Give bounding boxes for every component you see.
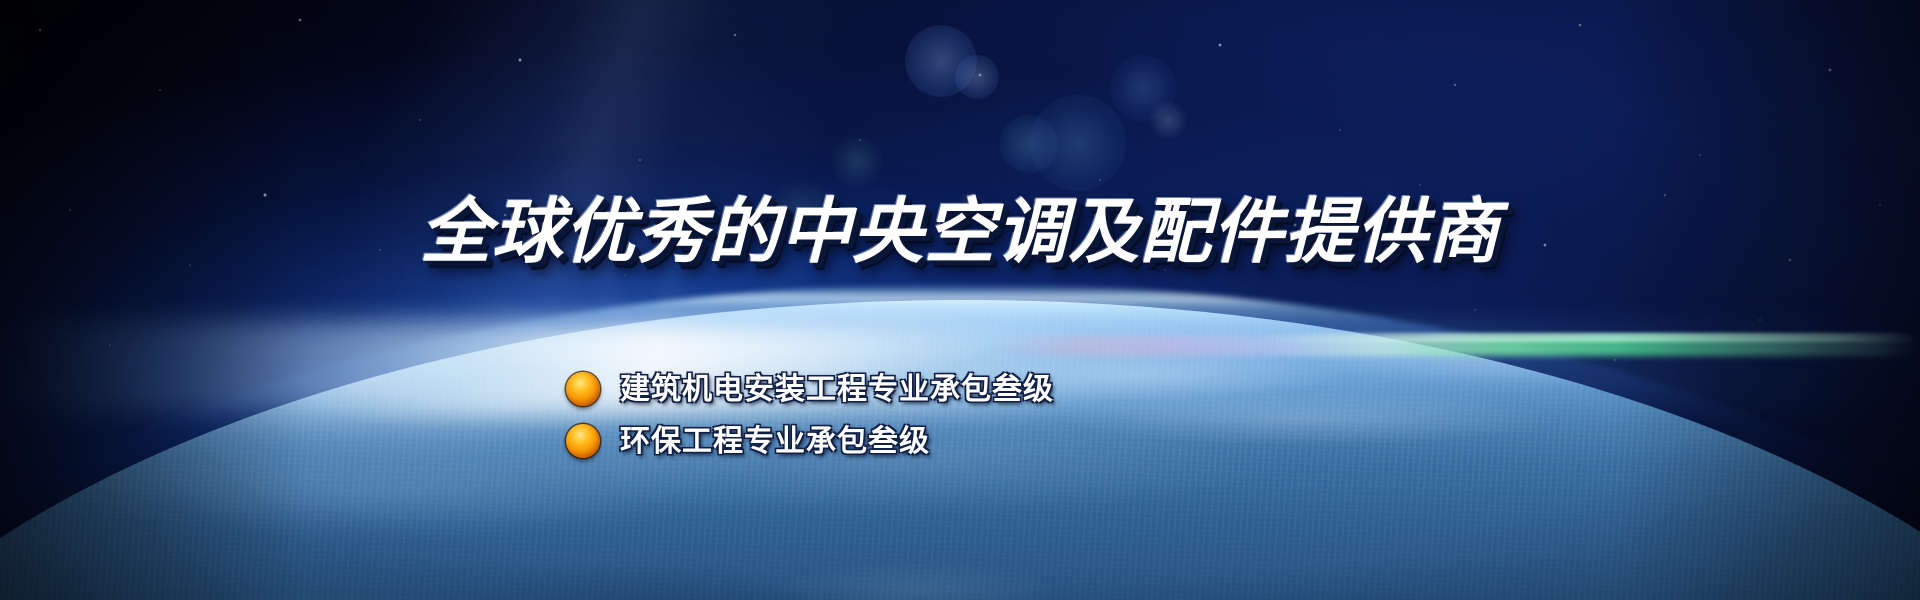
orange-dot-bullet-icon <box>566 424 600 458</box>
bullet-label: 建筑机电安装工程专业承包叁级 <box>620 373 1054 406</box>
banner-headline: 全球优秀的中央空调及配件提供商 <box>0 196 1920 267</box>
banner-bullet-list: 建筑机电安装工程专业承包叁级 环保工程专业承包叁级 <box>566 372 1054 458</box>
banner-content: 全球优秀的中央空调及配件提供商 建筑机电安装工程专业承包叁级 环保工程专业承包叁… <box>0 0 1920 600</box>
hero-banner: 全球优秀的中央空调及配件提供商 建筑机电安装工程专业承包叁级 环保工程专业承包叁… <box>0 0 1920 600</box>
bullet-item-qualification-1: 建筑机电安装工程专业承包叁级 <box>566 372 1054 406</box>
bullet-item-qualification-2: 环保工程专业承包叁级 <box>566 424 1054 458</box>
bullet-label: 环保工程专业承包叁级 <box>620 425 930 458</box>
orange-dot-bullet-icon <box>566 372 600 406</box>
